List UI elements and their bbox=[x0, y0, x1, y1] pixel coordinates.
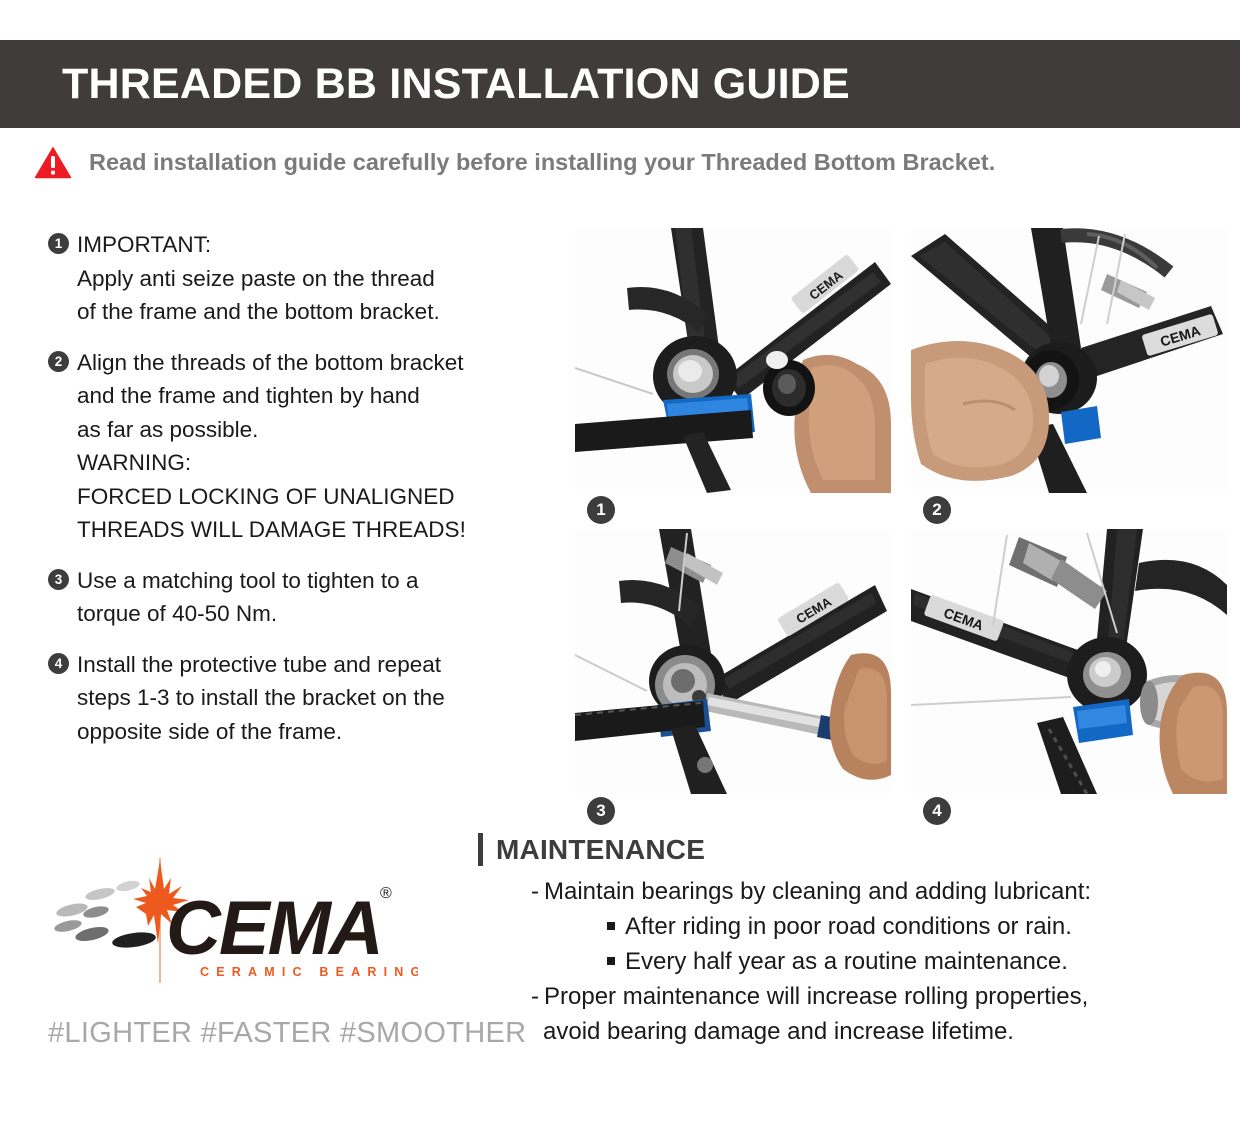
warning-triangle-icon bbox=[34, 145, 72, 179]
step-text: Use a matching tool to tighten to a torq… bbox=[77, 564, 418, 631]
step-line: of the frame and the bottom bracket. bbox=[77, 295, 440, 329]
cema-logo: CEMA ® CERAMIC BEARING bbox=[48, 858, 418, 983]
maintenance-item-text: Maintain bearings by cleaning and adding… bbox=[544, 878, 1091, 905]
photo-cell: CEMA bbox=[575, 228, 891, 527]
photo-caption: 3 bbox=[575, 794, 891, 828]
brand-logo-block: CEMA ® CERAMIC BEARING #LIGHTER #FASTER … bbox=[48, 858, 488, 1050]
step-line: opposite side of the frame. bbox=[77, 715, 445, 749]
svg-text:CEMA: CEMA bbox=[166, 886, 382, 971]
photo-number-badge: 3 bbox=[587, 797, 615, 825]
step-number-badge: 3 bbox=[48, 569, 69, 590]
svg-text:CERAMIC BEARING: CERAMIC BEARING bbox=[200, 965, 418, 979]
step-line: THREADS WILL DAMAGE THREADS! bbox=[77, 513, 466, 547]
maintenance-accent-bar bbox=[478, 833, 483, 866]
step-line: and the frame and tighten by hand bbox=[77, 379, 466, 413]
step-line: IMPORTANT: bbox=[77, 228, 440, 262]
dash-marker: - bbox=[531, 878, 539, 905]
photo-caption: 1 bbox=[575, 493, 891, 527]
step-text: Align the threads of the bottom bracket … bbox=[77, 346, 466, 547]
step-item: 3 Use a matching tool to tighten to a to… bbox=[48, 564, 568, 631]
photo-step-3: CEMA bbox=[575, 529, 891, 794]
maintenance-item: After riding in poor road conditions or … bbox=[511, 909, 1218, 944]
maintenance-item-text: avoid bearing damage and increase lifeti… bbox=[543, 1018, 1014, 1045]
step-item: 1 IMPORTANT: Apply anti seize paste on t… bbox=[48, 228, 568, 329]
step-line: torque of 40-50 Nm. bbox=[77, 597, 418, 631]
step-item: 4 Install the protective tube and repeat… bbox=[48, 648, 568, 749]
step-number-badge: 1 bbox=[48, 233, 69, 254]
photo-step-2: CEMA bbox=[911, 228, 1227, 493]
step-line: WARNING: bbox=[77, 446, 466, 480]
maintenance-item: Every half year as a routine maintenance… bbox=[511, 944, 1218, 979]
brand-hashtags: #LIGHTER #FASTER #SMOOTHER bbox=[48, 1017, 488, 1050]
step-number-badge: 2 bbox=[48, 351, 69, 372]
photo-caption: 2 bbox=[911, 493, 1227, 527]
step-line: Align the threads of the bottom bracket bbox=[77, 346, 466, 380]
square-bullet-icon bbox=[607, 922, 615, 930]
page-title: THREADED BB INSTALLATION GUIDE bbox=[0, 60, 850, 109]
warning-text: Read installation guide carefully before… bbox=[89, 149, 995, 176]
photo-number-badge: 2 bbox=[923, 496, 951, 524]
step-line: Use a matching tool to tighten to a bbox=[77, 564, 418, 598]
step-text: IMPORTANT: Apply anti seize paste on the… bbox=[77, 228, 440, 329]
installation-steps: 1 IMPORTANT: Apply anti seize paste on t… bbox=[48, 228, 568, 765]
maintenance-header: MAINTENANCE bbox=[478, 833, 1218, 866]
photo-grid: CEMA bbox=[575, 228, 1233, 828]
maintenance-item-text: After riding in poor road conditions or … bbox=[625, 913, 1072, 940]
step-line: Install the protective tube and repeat bbox=[77, 648, 445, 682]
step-text: Install the protective tube and repeat s… bbox=[77, 648, 445, 749]
photo-step-1: CEMA bbox=[575, 228, 891, 493]
square-bullet-icon bbox=[607, 957, 615, 965]
photo-row: CEMA bbox=[575, 228, 1233, 527]
step-line: steps 1-3 to install the bracket on the bbox=[77, 681, 445, 715]
maintenance-section: MAINTENANCE -Maintain bearings by cleani… bbox=[478, 833, 1218, 1049]
maintenance-item-text: Every half year as a routine maintenance… bbox=[625, 948, 1068, 975]
photo-number-badge: 1 bbox=[587, 496, 615, 524]
step-line: FORCED LOCKING OF UNALIGNED bbox=[77, 480, 466, 514]
step-number-badge: 4 bbox=[48, 653, 69, 674]
maintenance-list: -Maintain bearings by cleaning and addin… bbox=[478, 874, 1218, 1049]
photo-cell: CEMA bbox=[911, 228, 1227, 527]
photo-cell: CEMA bbox=[911, 529, 1227, 828]
maintenance-item: avoid bearing damage and increase lifeti… bbox=[511, 1014, 1218, 1049]
page-header: THREADED BB INSTALLATION GUIDE bbox=[0, 40, 1240, 128]
maintenance-title: MAINTENANCE bbox=[496, 834, 705, 866]
step-line: as far as possible. bbox=[77, 413, 466, 447]
maintenance-item: -Maintain bearings by cleaning and addin… bbox=[511, 874, 1218, 909]
maintenance-item-text: Proper maintenance will increase rolling… bbox=[544, 983, 1088, 1010]
photo-cell: CEMA bbox=[575, 529, 891, 828]
dash-marker: - bbox=[531, 983, 539, 1010]
photo-number-badge: 4 bbox=[923, 797, 951, 825]
svg-text:®: ® bbox=[380, 885, 392, 902]
step-item: 2 Align the threads of the bottom bracke… bbox=[48, 346, 568, 547]
maintenance-item: -Proper maintenance will increase rollin… bbox=[511, 979, 1218, 1014]
step-line: Apply anti seize paste on the thread bbox=[77, 262, 440, 296]
warning-banner: Read installation guide carefully before… bbox=[0, 136, 1240, 188]
photo-row: CEMA bbox=[575, 529, 1233, 828]
photo-caption: 4 bbox=[911, 794, 1227, 828]
photo-step-4: CEMA bbox=[911, 529, 1227, 794]
